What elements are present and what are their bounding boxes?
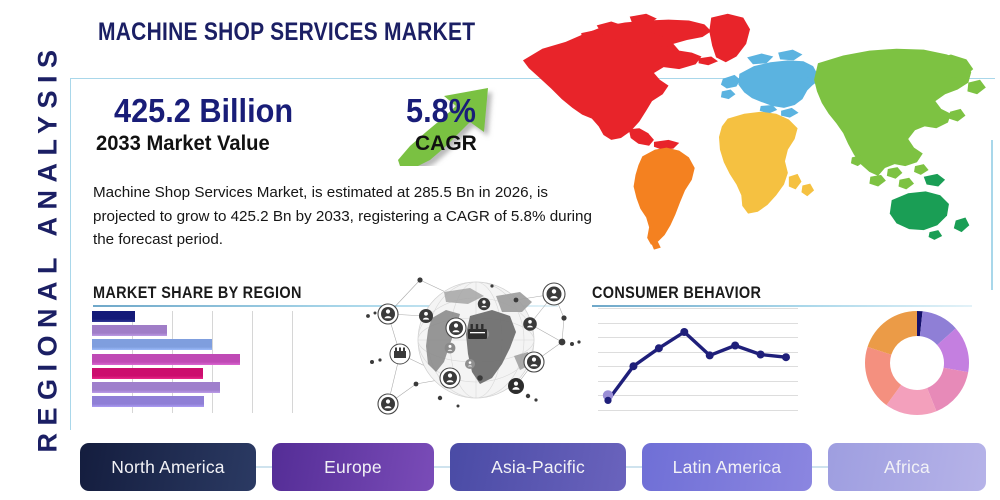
- region-tabs: North AmericaEuropeAsia-PacificLatin Ame…: [80, 443, 995, 491]
- cagr-number: 5.8%: [406, 92, 476, 130]
- market-share-heading: MARKET SHARE BY REGION: [93, 283, 302, 303]
- page-title: MACHINE SHOP SERVICES MARKET: [98, 18, 475, 47]
- line-chart-point: [680, 328, 688, 336]
- line-chart-point: [604, 397, 611, 404]
- line-chart-point: [757, 351, 765, 359]
- bar-chart-bar: [92, 368, 203, 379]
- consumer-behavior-heading: CONSUMER BEHAVIOR: [592, 283, 761, 303]
- region-tab-connector: [434, 466, 450, 468]
- region-tab-label: North America: [111, 457, 224, 478]
- bar-chart-bar: [92, 382, 220, 393]
- bar-chart-bar: [92, 325, 167, 336]
- region-tab-label: Europe: [324, 457, 382, 478]
- line-chart-point: [731, 342, 739, 350]
- region-tab-connector: [812, 466, 828, 468]
- region-tab-europe[interactable]: Europe: [272, 443, 434, 491]
- kpi-block: 425.2 Billion 2033 Market Value 5.8% CAG…: [92, 96, 512, 168]
- consumer-behavior-line-chart: [598, 308, 798, 412]
- market-description: Machine Shop Services Market, is estimat…: [93, 181, 603, 252]
- regional-analysis-side-label: REGIONAL ANALYSIS: [33, 38, 64, 458]
- globe-network-icon: [358, 272, 594, 424]
- bar-chart-gridline: [252, 311, 253, 413]
- region-tab-label: Asia-Pacific: [491, 457, 585, 478]
- market-share-bar-chart: [92, 311, 292, 413]
- line-chart-series: [598, 308, 798, 412]
- region-tab-asia-pacific[interactable]: Asia-Pacific: [450, 443, 626, 491]
- bar-chart-gridline: [292, 311, 293, 413]
- bar-chart-bar: [92, 311, 135, 322]
- line-chart-point: [655, 344, 663, 352]
- cagr-label: CAGR: [415, 132, 477, 156]
- market-value-label: 2033 Market Value: [96, 132, 270, 156]
- donut-chart-svg: [862, 308, 972, 418]
- region-tab-connector: [256, 466, 272, 468]
- donut-segment: [868, 311, 917, 355]
- segment-donut-chart: [862, 308, 972, 418]
- bar-chart-bar: [92, 396, 204, 407]
- region-tab-africa[interactable]: Africa: [828, 443, 986, 491]
- bar-chart-bar: [92, 339, 212, 350]
- region-tab-latin-america[interactable]: Latin America: [642, 443, 812, 491]
- infographic-root: REGIONAL ANALYSIS MACHINE SHOP SERVICES …: [0, 0, 1000, 500]
- bar-chart-bar: [92, 354, 240, 365]
- line-chart-point: [629, 362, 637, 370]
- line-chart-point: [706, 351, 714, 359]
- region-tab-label: Latin America: [673, 457, 782, 478]
- consumer-behavior-heading-rule: [592, 305, 972, 307]
- market-value-number: 425.2 Billion: [114, 92, 293, 130]
- region-tab-north-america[interactable]: North America: [80, 443, 256, 491]
- line-chart-point: [782, 353, 790, 361]
- region-tab-label: Africa: [884, 457, 930, 478]
- region-tab-connector: [626, 466, 642, 468]
